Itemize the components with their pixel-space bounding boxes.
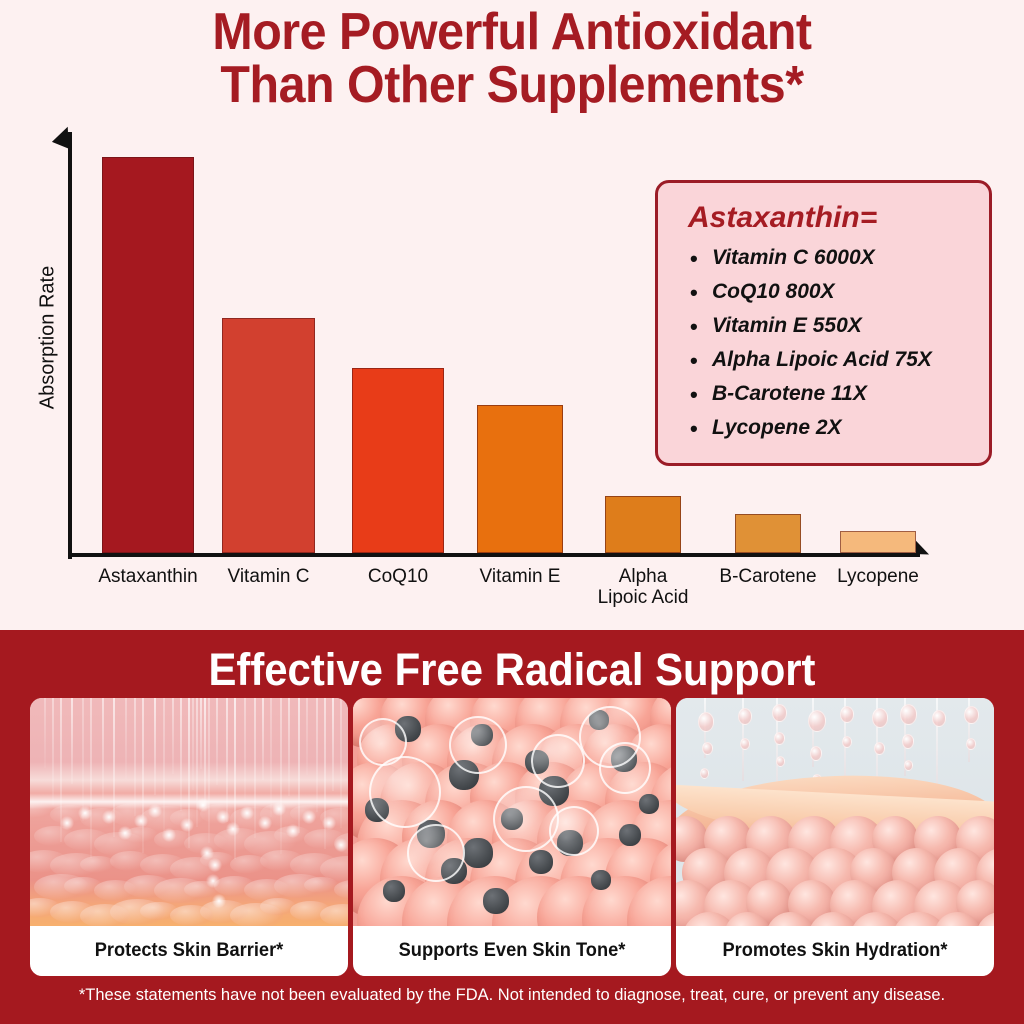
legend-item-label: Lycopene 2X xyxy=(712,416,842,439)
light-beam xyxy=(192,698,194,790)
tick-label-6: Lycopene xyxy=(798,566,958,587)
light-spark xyxy=(102,810,116,824)
light-beam xyxy=(125,698,127,779)
bullet-icon: • xyxy=(690,241,698,277)
light-beam xyxy=(134,698,136,816)
light-beam xyxy=(270,698,272,817)
light-spark xyxy=(162,828,176,842)
light-beam xyxy=(172,698,174,774)
light-spark xyxy=(322,816,336,830)
water-droplet xyxy=(772,704,787,722)
water-droplet xyxy=(840,706,854,723)
skin-tone-image xyxy=(353,698,671,926)
light-beam xyxy=(82,698,84,821)
bubble xyxy=(407,824,465,882)
skin-barrier-image xyxy=(30,698,348,926)
benefit-card-skin-barrier[interactable]: Protects Skin Barrier* xyxy=(30,698,348,976)
water-droplet xyxy=(698,712,714,732)
water-droplet xyxy=(776,756,785,767)
bullet-icon: • xyxy=(690,275,698,311)
bullet-icon: • xyxy=(690,377,698,413)
legend-item-label: CoQ10 800X xyxy=(712,280,835,303)
bar-alpha xyxy=(605,496,681,553)
melanin-cluster xyxy=(529,850,553,874)
skin-barrier-illustration xyxy=(30,698,348,926)
melanin-cluster xyxy=(383,880,405,902)
light-beam xyxy=(306,698,308,775)
light-beam xyxy=(262,698,264,780)
light-spark xyxy=(258,816,272,830)
legend-item-5: •Lycopene 2X xyxy=(712,411,979,445)
card-caption-3: Promotes Skin Hydration* xyxy=(682,926,987,976)
water-droplet xyxy=(808,710,826,732)
light-spark xyxy=(334,838,348,852)
melanin-cluster xyxy=(483,888,509,914)
light-beam xyxy=(102,698,104,800)
bubble xyxy=(449,716,507,774)
title-line-2: Than Other Supplements* xyxy=(36,59,988,112)
legend-item-2: •Vitamin E 550X xyxy=(712,309,979,343)
light-spark xyxy=(148,804,162,818)
light-spark xyxy=(302,810,316,824)
legend-item-label: Vitamin C 6000X xyxy=(712,246,875,269)
benefit-card-skin-tone[interactable]: Supports Even Skin Tone* xyxy=(353,698,671,976)
water-droplet xyxy=(904,760,913,771)
light-beam xyxy=(244,698,246,801)
light-beam xyxy=(44,698,46,768)
free-radical-support-banner: Effective Free Radical Support Protects … xyxy=(0,630,1024,1024)
legend-heading: Astaxanthin= xyxy=(688,201,979,235)
water-droplet xyxy=(700,768,709,779)
bar-lycopene xyxy=(840,531,916,553)
water-droplet xyxy=(740,738,750,750)
bullet-icon: • xyxy=(690,411,698,447)
legend-item-list: •Vitamin C 6000X•CoQ10 800X•Vitamin E 55… xyxy=(680,241,979,445)
water-droplet xyxy=(702,742,713,755)
legend-item-0: •Vitamin C 6000X xyxy=(712,241,979,275)
water-droplet xyxy=(872,708,888,728)
legend-item-label: Vitamin E 550X xyxy=(712,314,862,337)
y-axis-arrow-icon xyxy=(52,123,76,148)
absorption-rate-bar-chart: Absorption Rate AstaxanthinVitamin CCoQ1… xyxy=(0,126,1024,630)
benefit-card-skin-hydration[interactable]: Promotes Skin Hydration* xyxy=(676,698,994,976)
water-droplet xyxy=(874,742,885,755)
light-beam xyxy=(204,698,206,806)
bar-astaxanthin xyxy=(102,157,194,553)
light-spark xyxy=(286,824,300,838)
legend-item-label: B-Carotene 11X xyxy=(712,382,867,405)
light-spark xyxy=(78,806,92,820)
light-spark xyxy=(180,818,194,832)
light-spark xyxy=(60,816,74,830)
light-beam xyxy=(288,698,290,796)
hydration-illustration xyxy=(676,698,994,926)
light-beam xyxy=(332,698,334,791)
light-beam xyxy=(154,698,156,795)
light-spark xyxy=(206,874,220,888)
bar-b-carotene xyxy=(735,514,801,553)
legend-item-3: •Alpha Lipoic Acid 75X xyxy=(712,343,979,377)
banner-heading: Effective Free Radical Support xyxy=(36,644,988,696)
light-spark xyxy=(134,814,148,828)
water-droplet xyxy=(774,732,785,745)
fda-disclaimer: *These statements have not been evaluate… xyxy=(15,985,1008,1005)
bar-vitamin-e xyxy=(477,405,563,553)
water-droplet xyxy=(964,706,979,724)
astaxanthin-comparison-legend: Astaxanthin= •Vitamin C 6000X•CoQ10 800X… xyxy=(655,180,992,466)
legend-item-4: •B-Carotene 11X xyxy=(712,377,979,411)
y-axis-label: Absorption Rate xyxy=(37,238,60,438)
bullet-icon: • xyxy=(690,309,698,345)
light-beam xyxy=(52,698,54,805)
light-beam xyxy=(200,698,202,769)
card-caption-2: Supports Even Skin Tone* xyxy=(359,926,664,976)
bubble xyxy=(369,756,441,828)
title-line-1: More Powerful Antioxidant xyxy=(36,6,988,59)
legend-item-1: •CoQ10 800X xyxy=(712,275,979,309)
bar-coq10 xyxy=(352,368,444,553)
water-droplet xyxy=(738,708,752,725)
bubble xyxy=(531,734,585,788)
light-beam xyxy=(316,698,318,812)
skin-bump xyxy=(320,904,348,926)
light-spark xyxy=(216,810,230,824)
water-droplet xyxy=(810,746,822,761)
bar-vitamin-c xyxy=(222,318,315,553)
infographic-page: More Powerful Antioxidant Than Other Sup… xyxy=(0,0,1024,1024)
light-spark xyxy=(226,822,240,836)
y-axis-line xyxy=(68,132,72,559)
bubble xyxy=(359,718,407,766)
legend-item-label: Alpha Lipoic Acid 75X xyxy=(712,348,932,371)
skin-bump xyxy=(304,877,338,893)
light-beam xyxy=(216,698,218,785)
melanin-cluster xyxy=(591,870,611,890)
card-caption-1: Protects Skin Barrier* xyxy=(36,926,341,976)
water-droplet xyxy=(902,734,914,749)
water-droplet xyxy=(900,704,917,725)
bubble xyxy=(549,806,599,856)
light-spark xyxy=(272,802,286,816)
melanin-cluster xyxy=(619,824,641,846)
light-spark xyxy=(118,826,132,840)
page-title: More Powerful Antioxidant Than Other Sup… xyxy=(0,6,1024,112)
bubble xyxy=(599,742,651,794)
bullet-icon: • xyxy=(690,343,698,379)
light-spark xyxy=(196,798,210,812)
melanin-cluster xyxy=(463,838,493,868)
light-spark xyxy=(208,858,222,872)
x-axis-line xyxy=(68,553,920,557)
water-droplet xyxy=(966,738,976,750)
water-droplet xyxy=(842,736,852,748)
light-beam xyxy=(180,698,182,811)
light-spark xyxy=(240,806,254,820)
skin-cells-illustration xyxy=(353,698,671,926)
skin-hydration-image xyxy=(676,698,994,926)
water-droplet xyxy=(932,710,946,727)
melanin-cluster xyxy=(639,794,659,814)
light-spark xyxy=(212,894,226,908)
bubble xyxy=(493,786,559,852)
light-beam xyxy=(71,698,73,784)
